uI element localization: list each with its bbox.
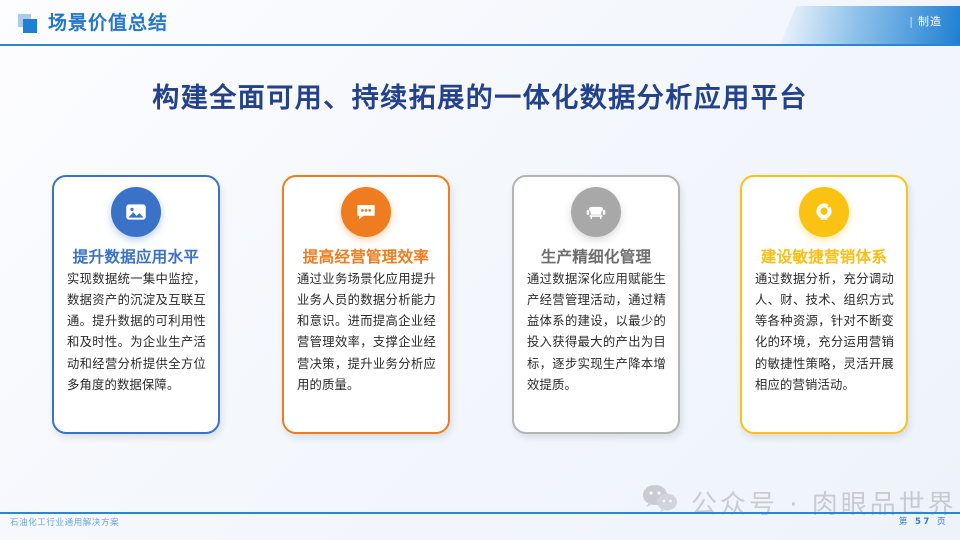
value-card-data-application[interactable]: 提升数据应用水平 实现数据统一集中监控，数据资产的沉淀及互联互通。提升数据的可利… — [52, 175, 220, 434]
card-icon-wrap — [54, 187, 218, 237]
value-cards-row: 提升数据应用水平 实现数据统一集中监控，数据资产的沉淀及互联互通。提升数据的可利… — [0, 175, 960, 437]
header-divider — [0, 44, 960, 46]
tab-label-text: 制造 — [918, 15, 942, 28]
card-body: 通过数据分析，充分调动人、财、技术、组织方式等各种资源，针对不断变化的环境，充分… — [755, 269, 894, 396]
card-title: 建设敏捷营销体系 — [742, 245, 906, 267]
page-title: 构建全面可用、持续拓展的一体化数据分析应用平台 — [0, 76, 960, 115]
card-body: 通过数据深化应用赋能生产经营管理活动，通过精益体系的建设，以最少的投入获得最大的… — [527, 269, 666, 396]
card-body: 实现数据统一集中监控，数据资产的沉淀及互联互通。提升数据的可利用性和及时性。为企… — [67, 269, 206, 396]
page-prefix: 第 — [899, 517, 910, 527]
page-suffix: 页 — [937, 517, 948, 527]
chat-bubble-icon — [341, 187, 391, 237]
image-picture-icon — [111, 187, 161, 237]
value-card-production-management[interactable]: 生产精细化管理 通过数据深化应用赋能生产经营管理活动，通过精益体系的建设，以最少… — [512, 175, 680, 434]
slide-header: 场景价值总结 |制造 — [0, 0, 960, 46]
header-title: 场景价值总结 — [48, 8, 168, 35]
page-number: 第 57 页 — [899, 515, 948, 527]
footer-divider — [0, 512, 960, 514]
page-number-value: 57 — [915, 517, 932, 527]
card-icon-wrap — [742, 187, 906, 237]
card-body: 通过业务场景化应用提升业务人员的数据分析能力和意识。进而提高企业经营管理效率，支… — [297, 269, 436, 396]
wechat-logo-icon — [640, 482, 682, 523]
header-tab-label: |制造 — [909, 13, 942, 29]
footer-left-text: 石油化工行业通用解决方案 — [10, 516, 119, 528]
two-squares-icon — [18, 14, 40, 34]
value-card-agile-marketing[interactable]: 建设敏捷营销体系 通过数据分析，充分调动人、财、技术、组织方式等各种资源，针对不… — [740, 175, 908, 434]
slide-root: 场景价值总结 |制造 构建全面可用、持续拓展的一体化数据分析应用平台 提升数据应… — [0, 0, 960, 540]
card-icon-wrap — [514, 187, 678, 237]
tab-divider: | — [909, 15, 914, 28]
value-card-management-efficiency[interactable]: 提高经营管理效率 通过业务场景化应用提升业务人员的数据分析能力和意识。进而提高企… — [282, 175, 450, 434]
armchair-sofa-icon — [571, 187, 621, 237]
card-icon-wrap — [284, 187, 448, 237]
card-title: 生产精细化管理 — [514, 245, 678, 267]
camera-lens-target-icon — [799, 187, 849, 237]
card-title: 提升数据应用水平 — [54, 245, 218, 267]
card-title: 提高经营管理效率 — [284, 245, 448, 267]
